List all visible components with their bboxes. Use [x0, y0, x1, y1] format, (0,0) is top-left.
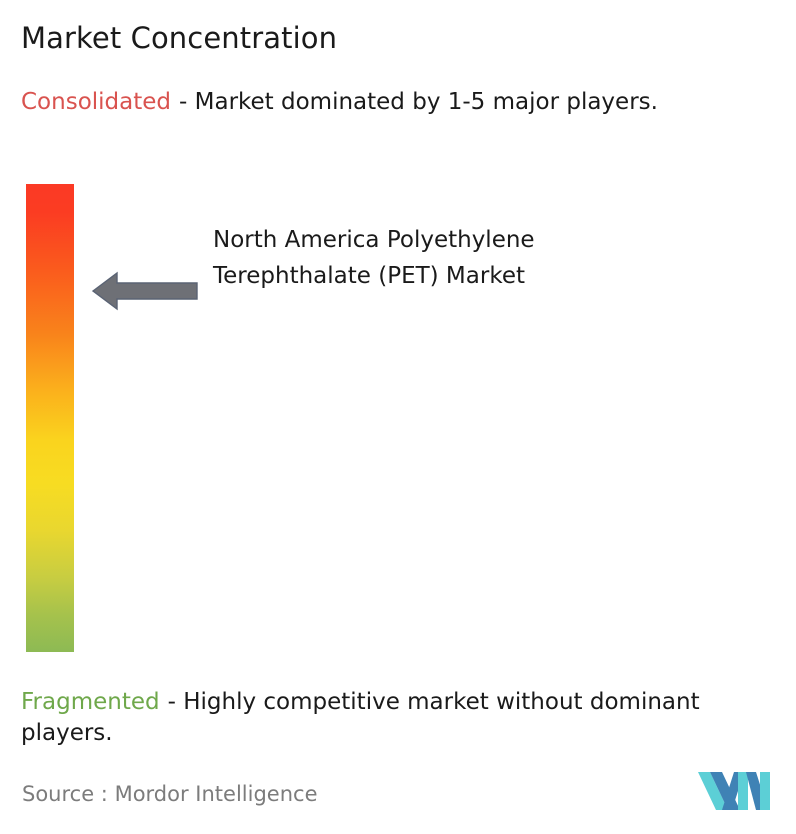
- source-line: Source : Mordor Intelligence: [22, 781, 317, 808]
- source-value: Mordor Intelligence: [115, 782, 318, 806]
- legend-note-fragmented: Fragmented- Highly competitive market wi…: [21, 687, 793, 749]
- source-label: Source :: [22, 782, 108, 806]
- callout-arrow: [91, 268, 199, 314]
- legend-keyword-consolidated: Consolidated: [21, 89, 171, 115]
- chart-canvas: Market Concentration Consolidated- Marke…: [0, 0, 796, 834]
- legend-description-consolidated: - Market dominated by 1-5 major players.: [179, 89, 658, 115]
- mordor-intelligence-logo-icon: [698, 766, 770, 812]
- concentration-gradient-bar: [26, 184, 74, 652]
- callout-label: North America Polyethylene Terephthalate…: [213, 222, 543, 294]
- legend-keyword-fragmented: Fragmented: [21, 689, 160, 715]
- left-arrow-icon: [91, 268, 199, 314]
- legend-note-consolidated: Consolidated- Market dominated by 1-5 ma…: [21, 87, 781, 118]
- logo-mark: [698, 766, 770, 812]
- page-title: Market Concentration: [21, 20, 337, 56]
